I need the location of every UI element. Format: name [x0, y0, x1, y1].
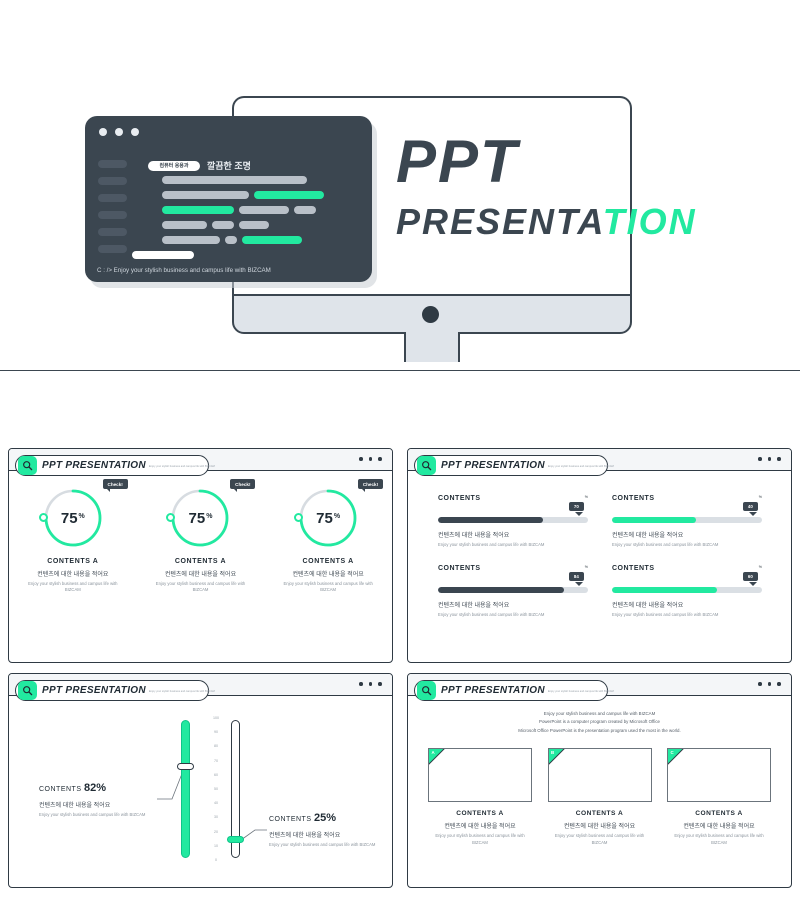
- progress-value: 70: [569, 502, 584, 511]
- terminal-tag-pill: 컴퓨터 응용과: [148, 161, 200, 171]
- card-letter: C: [671, 750, 674, 755]
- window-dot: [768, 457, 772, 461]
- code-row: [162, 191, 362, 199]
- progress-kor-text: 컨텐츠에 대한 내용을 적어요: [612, 600, 762, 609]
- progress-track: [612, 587, 762, 593]
- hero-divider: [0, 370, 800, 371]
- slider-left-value: 82%: [84, 782, 106, 794]
- progress-head: CONTENTS 40%: [612, 495, 762, 513]
- slider-left-label: CONTENTS: [39, 786, 82, 793]
- code-seg: [225, 236, 237, 244]
- card-image-placeholder: C: [667, 748, 771, 802]
- donut-kor-text: 컨텐츠에 대한 내용을 적어요: [141, 569, 259, 578]
- progress-fill: [612, 517, 696, 523]
- donut-kor-text: 컨텐츠에 대한 내용을 적어요: [269, 569, 387, 578]
- code-row: [162, 176, 362, 184]
- intro-line: PowerPoint is a computer program created…: [408, 718, 791, 726]
- donut-gauge: 75%: [297, 487, 359, 549]
- donut-eng-text: Enjoy your stylish business and campus l…: [141, 581, 259, 594]
- slide-title: PPT PRESENTATION: [441, 685, 545, 696]
- card-eng-text: Enjoy your stylish business and campus l…: [428, 833, 532, 846]
- slide-subtitle: Enjoy your stylish business and campus l…: [149, 466, 215, 469]
- progress-eng-text: Enjoy your stylish business and campus l…: [438, 542, 588, 547]
- card-item[interactable]: A CONTENTS A 컨텐츠에 대한 내용을 적어요 Enjoy your …: [428, 748, 532, 846]
- card-kor-text: 컨텐츠에 대한 내용을 적어요: [667, 821, 771, 830]
- slide-subtitle: Enjoy your stylish business and campus l…: [548, 466, 614, 469]
- code-row: [162, 221, 362, 229]
- terminal-dot-1: [99, 128, 107, 136]
- slider-panel: 100 90 80 70 60 50 40 30 20 10 0 CONTENT…: [9, 696, 392, 887]
- donut-eng-text: Enjoy your stylish business and campus l…: [269, 581, 387, 594]
- progress-value: 60: [743, 572, 758, 581]
- slider-right-label: CONTENTS: [269, 816, 312, 823]
- scale-tick: 40: [214, 801, 218, 805]
- progress-badge: 60%: [743, 565, 762, 583]
- sidebar-line: [98, 211, 127, 219]
- slide-body: CONTENTS 70% 컨텐츠에 대한 내용을 적어요 Enjoy your …: [408, 471, 791, 662]
- progress-item: CONTENTS 60% 컨텐츠에 대한 내용을 적어요 Enjoy your …: [612, 565, 762, 617]
- progress-fill: [438, 517, 543, 523]
- slide-body: Check! 75% CONTENTS A 컨텐츠에 대한 내용을 적어요 En…: [9, 471, 392, 662]
- terminal-dot-3: [131, 128, 139, 136]
- monitor-stand-neck: [404, 332, 460, 362]
- terminal-heading: 깔끔한 조명: [207, 159, 251, 172]
- check-badge: Check!: [230, 479, 255, 489]
- hero-title-line2: PRESENTATION: [396, 204, 726, 240]
- progress-kor-text: 컨텐츠에 대한 내용을 적어요: [438, 530, 588, 539]
- slide-title: PPT PRESENTATION: [42, 685, 146, 696]
- code-seg: [239, 206, 289, 214]
- slide-subtitle: Enjoy your stylish business and campus l…: [149, 691, 215, 694]
- slider-scale: 100 90 80 70 60 50 40 30 20 10 0: [205, 716, 227, 862]
- card-title: CONTENTS A: [548, 810, 652, 817]
- terminal-sidebar-lines: [98, 160, 127, 253]
- window-dot: [768, 682, 772, 686]
- slider-left-eng: Enjoy your stylish business and campus l…: [39, 812, 157, 819]
- progress-eng-text: Enjoy your stylish business and campus l…: [438, 612, 588, 617]
- scale-tick: 80: [214, 744, 218, 748]
- hero-title-accent: TION: [603, 201, 697, 242]
- scale-tick: 70: [214, 759, 218, 763]
- code-seg: [162, 191, 249, 199]
- slider-right-value: 25%: [314, 812, 336, 824]
- terminal-command-line: C : /> Enjoy your stylish business and c…: [97, 267, 271, 274]
- slide-vertical-sliders[interactable]: PPT PRESENTATION Enjoy your stylish busi…: [8, 673, 393, 888]
- donut-number: 75: [316, 510, 333, 527]
- progress-fill: [612, 587, 717, 593]
- scale-tick: 10: [214, 844, 218, 848]
- slide-progress-bars[interactable]: PPT PRESENTATION Enjoy your stylish busi…: [407, 448, 792, 663]
- cards-intro-text: Enjoy your stylish business and campus l…: [408, 710, 791, 735]
- card-row: A CONTENTS A 컨텐츠에 대한 내용을 적어요 Enjoy your …: [428, 748, 771, 846]
- progress-head: CONTENTS 60%: [612, 565, 762, 583]
- progress-badge: 40%: [743, 495, 762, 513]
- hero-title-line1: PPT: [396, 132, 726, 192]
- donut-number: 75: [61, 510, 78, 527]
- card-letter: B: [551, 750, 554, 755]
- progress-label: CONTENTS: [612, 495, 655, 502]
- window-dot: [369, 457, 373, 461]
- donut-title: CONTENTS A: [141, 558, 259, 565]
- slide-title: PPT PRESENTATION: [441, 460, 545, 471]
- donut-value: 75%: [42, 487, 104, 549]
- slider-handle-right[interactable]: [227, 836, 244, 843]
- card-image-placeholder: B: [548, 748, 652, 802]
- progress-track: [438, 517, 588, 523]
- slide-body: Enjoy your stylish business and campus l…: [408, 696, 791, 887]
- progress-unit: %: [759, 495, 762, 499]
- donut-item: Check! 75% CONTENTS A 컨텐츠에 대한 내용을 적어요 En…: [269, 487, 387, 594]
- slide-grid: PPT PRESENTATION Enjoy your stylish busi…: [0, 440, 800, 900]
- progress-label: CONTENTS: [438, 565, 481, 572]
- slider-caption-right: CONTENTS 25% 컨텐츠에 대한 내용을 적어요 Enjoy your …: [269, 812, 387, 849]
- donut-eng-text: Enjoy your stylish business and campus l…: [14, 581, 132, 594]
- window-dots: [359, 682, 382, 686]
- code-seg: [254, 191, 324, 199]
- progress-item: CONTENTS 40% 컨텐츠에 대한 내용을 적어요 Enjoy your …: [612, 495, 762, 547]
- sidebar-line: [98, 160, 127, 168]
- slider-left-kor: 컨텐츠에 대한 내용을 적어요: [39, 800, 157, 809]
- progress-item: CONTENTS 84% 컨텐츠에 대한 내용을 적어요 Enjoy your …: [438, 565, 588, 617]
- code-seg: [294, 206, 316, 214]
- code-seg: [162, 236, 220, 244]
- progress-unit: %: [759, 565, 762, 569]
- progress-unit: %: [585, 495, 588, 499]
- slider-right-kor: 컨텐츠에 대한 내용을 적어요: [269, 830, 387, 839]
- card-letter: A: [432, 750, 435, 755]
- code-seg: [239, 221, 269, 229]
- window-dot: [359, 682, 363, 686]
- card-item[interactable]: C CONTENTS A 컨텐츠에 대한 내용을 적어요 Enjoy your …: [667, 748, 771, 846]
- window-dots: [359, 457, 382, 461]
- scale-tick: 20: [214, 830, 218, 834]
- donut-gauge: 75%: [169, 487, 231, 549]
- scale-tick: 50: [214, 787, 218, 791]
- card-image-placeholder: A: [428, 748, 532, 802]
- slide-body: 100 90 80 70 60 50 40 30 20 10 0 CONTENT…: [9, 696, 392, 887]
- code-seg: [162, 206, 234, 214]
- sidebar-line: [98, 245, 127, 253]
- donut-unit: %: [206, 513, 212, 520]
- card-title: CONTENTS A: [667, 810, 771, 817]
- donut-title: CONTENTS A: [14, 558, 132, 565]
- code-seg: [162, 221, 207, 229]
- progress-label: CONTENTS: [612, 565, 655, 572]
- code-seg: [212, 221, 234, 229]
- slider-left-heading: CONTENTS 82%: [39, 782, 157, 794]
- progress-eng-text: Enjoy your stylish business and campus l…: [612, 542, 762, 547]
- window-dot: [359, 457, 363, 461]
- card-title: CONTENTS A: [428, 810, 532, 817]
- progress-track: [438, 587, 588, 593]
- slider-handle-left[interactable]: [177, 763, 194, 770]
- page-root: PPT PRESENTATION 컴퓨터 응용과 깔끔한 조명: [0, 0, 800, 900]
- code-seg: [162, 176, 307, 184]
- donut-item: Check! 75% CONTENTS A 컨텐츠에 대한 내용을 적어요 En…: [141, 487, 259, 594]
- card-eng-text: Enjoy your stylish business and campus l…: [667, 833, 771, 846]
- progress-item: CONTENTS 70% 컨텐츠에 대한 내용을 적어요 Enjoy your …: [438, 495, 588, 547]
- scale-tick: 90: [214, 730, 218, 734]
- terminal-code-rows: [162, 176, 362, 266]
- scale-tick: 0: [215, 858, 217, 862]
- donut-number: 75: [189, 510, 206, 527]
- donut-unit: %: [79, 513, 85, 520]
- check-badge: Check!: [103, 479, 128, 489]
- progress-badge: 70%: [569, 495, 588, 513]
- intro-line: Enjoy your stylish business and campus l…: [408, 710, 791, 718]
- slide-title: PPT PRESENTATION: [42, 460, 146, 471]
- sidebar-line: [98, 194, 127, 202]
- check-badge: Check!: [358, 479, 383, 489]
- slider-right-heading: CONTENTS 25%: [269, 812, 387, 824]
- donut-row: Check! 75% CONTENTS A 컨텐츠에 대한 내용을 적어요 En…: [9, 487, 392, 594]
- code-seg: [242, 236, 302, 244]
- progress-label: CONTENTS: [438, 495, 481, 502]
- code-row: [162, 236, 362, 244]
- donut-title: CONTENTS A: [269, 558, 387, 565]
- progress-bar-grid: CONTENTS 70% 컨텐츠에 대한 내용을 적어요 Enjoy your …: [438, 495, 767, 617]
- card-item[interactable]: B CONTENTS A 컨텐츠에 대한 내용을 적어요 Enjoy your …: [548, 748, 652, 846]
- progress-kor-text: 컨텐츠에 대한 내용을 적어요: [612, 530, 762, 539]
- hero-title-dark: PRESENTA: [396, 201, 603, 242]
- slide-donut-gauges[interactable]: PPT PRESENTATION Enjoy your stylish busi…: [8, 448, 393, 663]
- code-row: [162, 206, 362, 214]
- slider-caption-left: CONTENTS 82% 컨텐츠에 대한 내용을 적어요 Enjoy your …: [39, 782, 157, 819]
- code-row: [162, 251, 362, 259]
- window-dot: [378, 457, 382, 461]
- sidebar-line: [98, 228, 127, 236]
- progress-value: 40: [743, 502, 758, 511]
- terminal-dot-2: [115, 128, 123, 136]
- window-dot: [369, 682, 373, 686]
- window-dots: [758, 457, 781, 461]
- scale-tick: 60: [214, 773, 218, 777]
- scale-tick: 100: [213, 716, 219, 720]
- window-dot: [777, 457, 781, 461]
- card-eng-text: Enjoy your stylish business and campus l…: [548, 833, 652, 846]
- scale-tick: 30: [214, 815, 218, 819]
- progress-unit: %: [585, 565, 588, 569]
- hero-title: PPT PRESENTATION: [396, 132, 726, 240]
- window-dot: [758, 682, 762, 686]
- terminal-traffic-lights: [99, 128, 139, 136]
- progress-value: 84: [569, 572, 584, 581]
- donut-kor-text: 컨텐츠에 대한 내용을 적어요: [14, 569, 132, 578]
- card-kor-text: 컨텐츠에 대한 내용을 적어요: [548, 821, 652, 830]
- donut-value: 75%: [297, 487, 359, 549]
- hero-section: PPT PRESENTATION 컴퓨터 응용과 깔끔한 조명: [0, 0, 800, 372]
- progress-fill: [438, 587, 564, 593]
- intro-line: Microsoft Office PowerPoint is the prese…: [408, 727, 791, 735]
- sidebar-line: [98, 177, 127, 185]
- donut-value: 75%: [169, 487, 231, 549]
- slider-right-eng: Enjoy your stylish business and campus l…: [269, 842, 387, 849]
- progress-kor-text: 컨텐츠에 대한 내용을 적어요: [438, 600, 588, 609]
- window-dots: [758, 682, 781, 686]
- window-dot: [758, 457, 762, 461]
- window-dot: [378, 682, 382, 686]
- code-seg: [132, 251, 194, 259]
- card-kor-text: 컨텐츠에 대한 내용을 적어요: [428, 821, 532, 830]
- donut-item: Check! 75% CONTENTS A 컨텐츠에 대한 내용을 적어요 En…: [14, 487, 132, 594]
- progress-head: CONTENTS 70%: [438, 495, 588, 513]
- progress-eng-text: Enjoy your stylish business and campus l…: [612, 612, 762, 617]
- progress-track: [612, 517, 762, 523]
- monitor-power-dot: [422, 306, 439, 323]
- slider-track-left[interactable]: [181, 720, 190, 858]
- slide-subtitle: Enjoy your stylish business and campus l…: [548, 691, 614, 694]
- terminal-window: 컴퓨터 응용과 깔끔한 조명 C : /> Enjoy your stylish…: [85, 116, 372, 282]
- donut-unit: %: [334, 513, 340, 520]
- window-dot: [777, 682, 781, 686]
- slide-image-cards[interactable]: PPT PRESENTATION Enjoy your stylish busi…: [407, 673, 792, 888]
- donut-gauge: 75%: [42, 487, 104, 549]
- progress-head: CONTENTS 84%: [438, 565, 588, 583]
- progress-badge: 84%: [569, 565, 588, 583]
